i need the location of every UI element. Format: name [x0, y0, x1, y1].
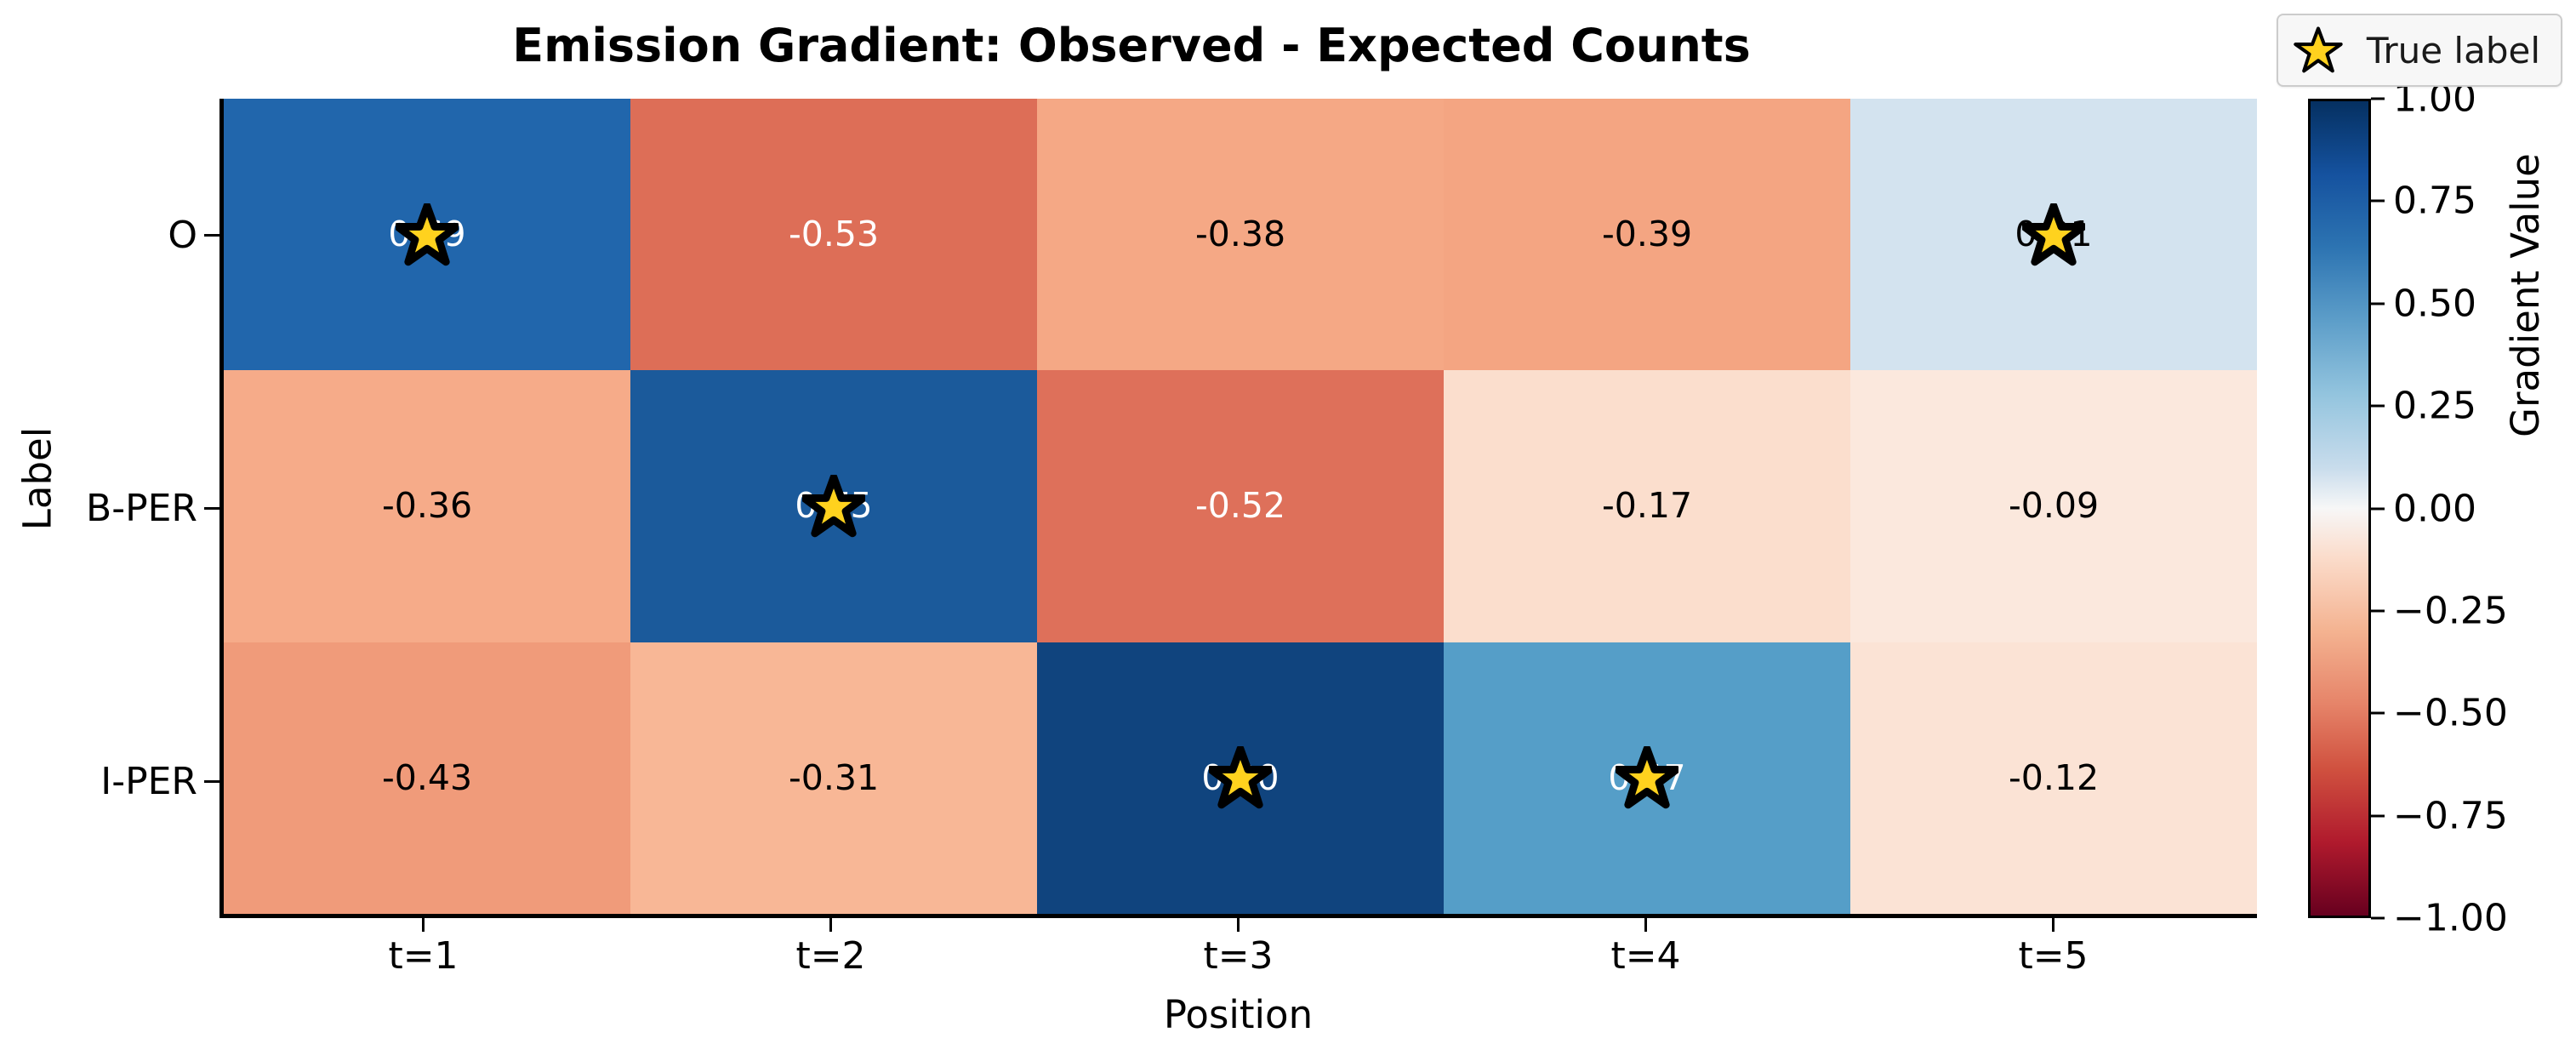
- colorbar-tick-mark: [2371, 917, 2385, 920]
- x-tick-label-t3: t=3: [1034, 934, 1442, 978]
- heatmap-cell: 0.69: [224, 99, 630, 370]
- colorbar-tick-label: 0.25: [2393, 385, 2476, 428]
- heatmap-cell: -0.38: [1037, 99, 1444, 370]
- x-tick-mark: [1849, 918, 2257, 932]
- colorbar-tick: 0.75: [2371, 180, 2476, 223]
- colorbar-tick-mark: [2371, 712, 2385, 715]
- heatmap-cell: 0.75: [630, 370, 1037, 642]
- colorbar-tick: −0.50: [2371, 692, 2508, 735]
- y-axis-tick-labels: O B-PER I-PER: [0, 99, 197, 918]
- heatmap-cell-value: -0.31: [789, 761, 879, 796]
- heatmap-cell: -0.52: [1037, 370, 1444, 642]
- heatmap-grid: 0.69-0.53-0.38-0.390.21-0.360.75-0.52-0.…: [224, 99, 2257, 914]
- heatmap-cell-value: -0.39: [1602, 217, 1692, 252]
- heatmap-cell-value: 0.75: [795, 488, 872, 523]
- x-tick-mark: [219, 918, 627, 932]
- x-axis-tick-marks: [219, 918, 2257, 932]
- y-tick-mark: [204, 645, 219, 918]
- colorbar-tick-label: 0.00: [2393, 487, 2476, 530]
- x-tick-label-t1: t=1: [219, 934, 627, 978]
- heatmap-cell-value: 0.90: [1201, 761, 1279, 796]
- colorbar-tick-label: −1.00: [2393, 897, 2508, 940]
- colorbar-tick: −0.75: [2371, 794, 2508, 837]
- heatmap-cell-value: -0.36: [382, 488, 472, 523]
- colorbar-tick: 0.00: [2371, 487, 2476, 530]
- colorbar-tick-mark: [2371, 98, 2385, 100]
- heatmap-cell-value: -0.09: [2009, 488, 2099, 523]
- colorbar-tick: 0.25: [2371, 385, 2476, 428]
- colorbar-tick-label: 0.50: [2393, 282, 2476, 325]
- heatmap-cell-value: 0.47: [1608, 761, 1685, 796]
- heatmap-cell: -0.36: [224, 370, 630, 642]
- heatmap-cell: -0.53: [630, 99, 1037, 370]
- y-axis-tick-marks: [204, 99, 219, 918]
- heatmap-plot-area: 0.69-0.53-0.38-0.390.21-0.360.75-0.52-0.…: [219, 99, 2257, 918]
- y-tick-label-i-per: I-PER: [0, 645, 197, 918]
- x-tick-label-t4: t=4: [1442, 934, 1849, 978]
- colorbar-tick-mark: [2371, 507, 2385, 510]
- heatmap-cell-value: -0.52: [1195, 488, 1285, 523]
- heatmap-cell: 0.21: [1850, 99, 2257, 370]
- colorbar-tick-mark: [2371, 405, 2385, 408]
- heatmap-cell: -0.43: [224, 642, 630, 914]
- legend[interactable]: True label: [2277, 14, 2562, 87]
- x-tick-label-t2: t=2: [627, 934, 1034, 978]
- heatmap-cell: -0.09: [1850, 370, 2257, 642]
- x-tick-mark: [1442, 918, 1849, 932]
- y-tick-mark: [204, 372, 219, 645]
- y-tick-label-b-per: B-PER: [0, 372, 197, 645]
- page-title: Emission Gradient: Observed - Expected C…: [0, 19, 2263, 72]
- heatmap-cell: -0.12: [1850, 642, 2257, 914]
- x-tick-mark: [627, 918, 1034, 932]
- colorbar-tick-label: −0.50: [2393, 692, 2508, 735]
- heatmap-cell: -0.31: [630, 642, 1037, 914]
- heatmap-cell-value: -0.38: [1195, 217, 1285, 252]
- heatmap-cell: 0.90: [1037, 642, 1444, 914]
- colorbar-title: Gradient Value: [2503, 83, 2548, 508]
- colorbar-gradient: [2308, 99, 2371, 918]
- colorbar-tick: −0.25: [2371, 589, 2508, 632]
- colorbar-tick-label: 0.75: [2393, 180, 2476, 223]
- heatmap-cell: -0.17: [1444, 370, 1850, 642]
- heatmap-cell-value: -0.53: [789, 217, 879, 252]
- colorbar-tick-mark: [2371, 609, 2385, 612]
- colorbar-tick: 0.50: [2371, 282, 2476, 325]
- colorbar-tick-label: −0.25: [2393, 589, 2508, 632]
- colorbar-tick: −1.00: [2371, 897, 2508, 940]
- colorbar-tick-mark: [2371, 200, 2385, 203]
- x-tick-label-t5: t=5: [1849, 934, 2257, 978]
- colorbar-tick-label: −0.75: [2393, 794, 2508, 837]
- y-tick-label-o: O: [0, 99, 197, 372]
- heatmap-cell-value: 0.21: [2015, 217, 2092, 252]
- x-axis-tick-labels: t=1 t=2 t=3 t=4 t=5: [219, 934, 2257, 978]
- x-axis-title: Position: [219, 992, 2257, 1037]
- colorbar-tick-mark: [2371, 302, 2385, 305]
- heatmap-cell-value: -0.17: [1602, 488, 1692, 523]
- star-icon: [2294, 26, 2343, 75]
- heatmap-cell-value: -0.12: [2009, 761, 2099, 796]
- colorbar-tick-mark: [2371, 814, 2385, 817]
- heatmap-cell: -0.39: [1444, 99, 1850, 370]
- heatmap-cell-value: 0.69: [388, 217, 465, 252]
- heatmap-cell-value: -0.43: [382, 761, 472, 796]
- legend-label-true-label: True label: [2367, 30, 2540, 71]
- y-tick-mark: [204, 99, 219, 372]
- heatmap-cell: 0.47: [1444, 642, 1850, 914]
- x-tick-mark: [1034, 918, 1442, 932]
